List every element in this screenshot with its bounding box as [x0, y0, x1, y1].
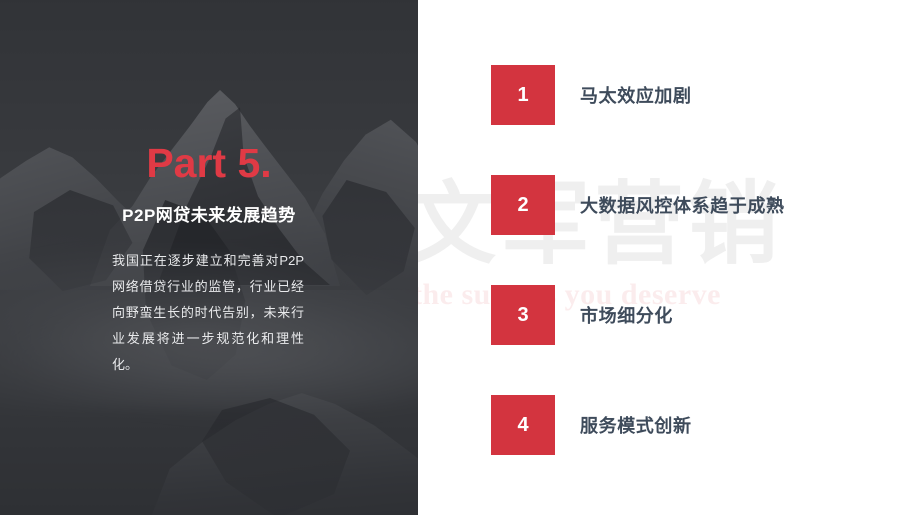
section-subtitle: P2P网贷未来发展趋势	[0, 201, 418, 226]
item-label: 服务模式创新	[580, 395, 692, 455]
section-body-paragraph: 我国正在逐步建立和完善对P2P网络借贷行业的监管，行业已经向野蛮生长的时代告别，…	[112, 248, 304, 378]
list-item[interactable]: 3 市场细分化	[418, 285, 917, 345]
item-label: 大数据风控体系趋于成熟	[580, 175, 785, 235]
item-number-badge: 1	[491, 65, 555, 125]
list-item[interactable]: 4 服务模式创新	[418, 395, 917, 455]
left-hero-panel: Part 5. P2P网贷未来发展趋势 我国正在逐步建立和完善对P2P网络借贷行…	[0, 0, 418, 515]
part-label: Part 5.	[0, 143, 418, 184]
item-number-badge: 2	[491, 175, 555, 235]
list-item[interactable]: 2 大数据风控体系趋于成熟	[418, 175, 917, 235]
item-number-badge: 3	[491, 285, 555, 345]
item-number-badge: 4	[491, 395, 555, 455]
left-panel-content: Part 5. P2P网贷未来发展趋势 我国正在逐步建立和完善对P2P网络借贷行…	[0, 0, 418, 515]
list-item[interactable]: 1 马太效应加剧	[418, 65, 917, 125]
right-list-panel: 文军营销 the success you deserve 1 马太效应加剧 2 …	[418, 0, 917, 515]
item-label: 市场细分化	[580, 285, 673, 345]
presentation-slide: Part 5. P2P网贷未来发展趋势 我国正在逐步建立和完善对P2P网络借贷行…	[0, 0, 917, 515]
item-label: 马太效应加剧	[580, 65, 692, 125]
